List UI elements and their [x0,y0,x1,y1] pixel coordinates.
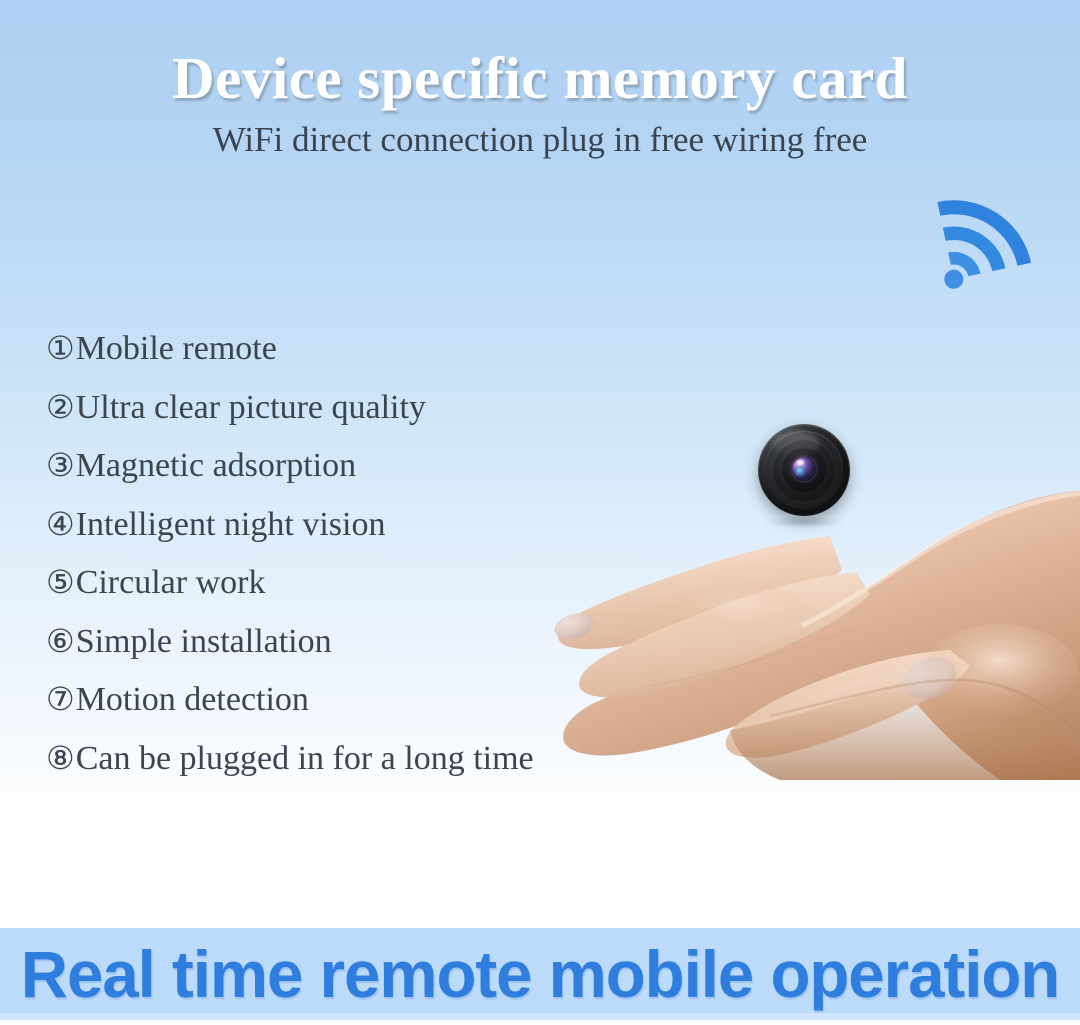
list-item-number: ⑧ [46,742,75,774]
list-item-number: ⑦ [46,683,75,715]
list-item-number: ⑥ [46,625,75,657]
camera-lens-icon [792,457,816,481]
list-item-number: ③ [46,449,75,481]
bottom-banner-text: Real time remote mobile operation [5,930,1074,1018]
page-subtitle: WiFi direct connection plug in free wiri… [0,120,1080,160]
lens-glint [797,460,804,465]
page-title: Device specific memory card [0,44,1080,113]
list-item-number: ② [46,391,75,423]
list-item-label: Circular work [76,564,266,602]
list-item-label: Magnetic adsorption [76,447,356,485]
list-item: ② Ultra clear picture quality [46,389,686,448]
list-item-number: ① [46,332,75,364]
wifi-icon [925,188,1050,298]
list-item-label: Ultra clear picture quality [76,389,426,427]
list-item-number: ④ [46,508,75,540]
list-item-number: ⑤ [46,566,75,598]
list-item-label: Motion detection [76,681,309,719]
device-gloss-highlight [772,431,820,457]
list-item-label: Can be plugged in for a long time [76,740,534,778]
list-item: ① Mobile remote [46,330,686,389]
mini-camera-device [758,424,850,516]
lens-cyan-flare [795,466,806,477]
list-item-label: Simple installation [76,623,332,661]
list-item-label: Intelligent night vision [76,506,386,544]
list-item-label: Mobile remote [76,330,277,368]
device-shadow [765,516,843,528]
product-poster: Device specific memory card WiFi direct … [0,0,1080,1025]
